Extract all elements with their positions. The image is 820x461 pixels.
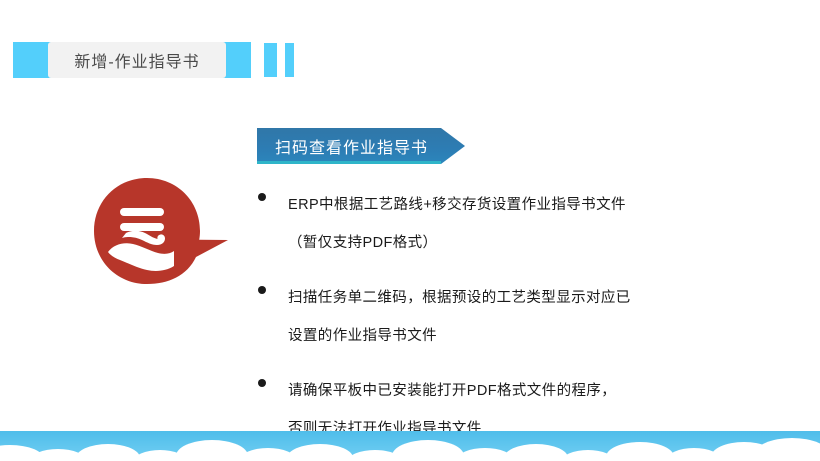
list-item-line: 设置的作业指导书文件 [288,317,688,355]
page-title-plate: 新增-作业指导书 [48,42,226,78]
section-banner: 扫码查看作业指导书 [257,128,465,164]
bullet-list: ERP中根据工艺路线+移交存货设置作业指导书文件 （暂仅支持PDF格式） 扫描任… [258,186,688,461]
slide-canvas: 新增-作业指导书 扫码查看作业指导书 ERP中根据工艺路线+移交存货设置作业指导… [0,0,820,461]
bullet-dot-icon [258,193,266,201]
list-item: ERP中根据工艺路线+移交存货设置作业指导书文件 （暂仅支持PDF格式） [258,186,688,262]
header-decor-block-left [13,42,51,78]
header-decor-bar-1 [264,43,277,77]
page-title: 新增-作业指导书 [74,48,199,72]
section-banner-title: 扫码查看作业指导书 [275,128,428,164]
header-decor-block-middle [222,42,251,78]
list-item-line: 请确保平板中已安装能打开PDF格式文件的程序， [288,372,688,410]
header-decor-bar-2 [285,43,294,77]
bullet-dot-icon [258,379,266,387]
speech-bubble-hand-document-icon [92,176,232,290]
list-item-line: （暂仅支持PDF格式） [288,224,688,262]
slide-header: 新增-作业指导书 [0,0,820,110]
bottom-cloud-decoration [0,431,820,461]
list-item-line: 扫描任务单二维码，根据预设的工艺类型显示对应已 [288,279,688,317]
list-item: 扫描任务单二维码，根据预设的工艺类型显示对应已 设置的作业指导书文件 [258,279,688,355]
bullet-dot-icon [258,286,266,294]
list-item-line: ERP中根据工艺路线+移交存货设置作业指导书文件 [288,186,688,224]
